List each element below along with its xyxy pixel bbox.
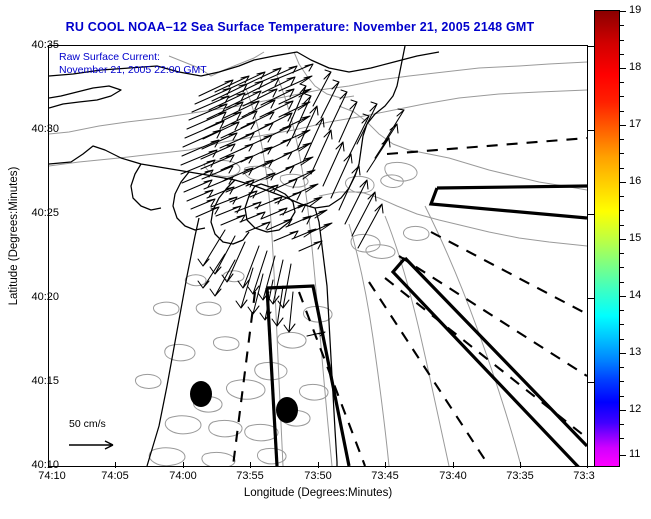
x-tick-mark bbox=[48, 462, 49, 468]
vector-scale-arrow bbox=[67, 438, 127, 452]
colorbar-minor-tick bbox=[620, 339, 624, 340]
colorbar-minor-tick bbox=[620, 168, 624, 169]
colorbar-minor-tick bbox=[620, 396, 624, 397]
map-canvas: Raw Surface Current: November 21, 2005 2… bbox=[49, 46, 587, 466]
x-tick-mark bbox=[250, 462, 251, 468]
colorbar-label: 13 bbox=[629, 346, 641, 358]
x-tick-label: 74:05 bbox=[101, 470, 129, 482]
colorbar-label: 16 bbox=[629, 175, 641, 187]
map-plot-area: Raw Surface Current: November 21, 2005 2… bbox=[48, 45, 588, 467]
colorbar-minor-tick bbox=[620, 111, 624, 112]
x-tick-mark bbox=[587, 462, 588, 468]
vector-scale-label: 50 cm/s bbox=[69, 418, 106, 430]
x-tick-mark bbox=[318, 462, 319, 468]
colorbar-minor-tick bbox=[620, 267, 624, 268]
colorbar-label: 14 bbox=[629, 289, 641, 301]
colorbar-minor-tick bbox=[620, 253, 624, 254]
y-tick-label: 40:15 bbox=[31, 375, 59, 387]
current-annotation: Raw Surface Current: November 21, 2005 2… bbox=[59, 51, 207, 77]
temperature-colorbar bbox=[594, 10, 620, 467]
colorbar-tick bbox=[620, 239, 626, 240]
colorbar-minor-tick bbox=[620, 381, 624, 382]
station-marker bbox=[190, 381, 212, 407]
colorbar-minor-tick bbox=[620, 54, 624, 55]
colorbar-minor-tick bbox=[620, 225, 624, 226]
figure-title: RU COOL NOAA–12 Sea Surface Temperature:… bbox=[0, 20, 600, 34]
coastline bbox=[49, 46, 439, 466]
y-tick-label: 40:30 bbox=[31, 123, 59, 135]
y-tick-label: 40:35 bbox=[31, 39, 59, 51]
sst-map-figure: RU COOL NOAA–12 Sea Surface Temperature:… bbox=[0, 0, 651, 519]
x-tick-label: 73:45 bbox=[371, 470, 399, 482]
x-tick-mark bbox=[183, 462, 184, 468]
x-tick-mark bbox=[453, 462, 454, 468]
x-tick-mark bbox=[520, 462, 521, 468]
y-tick-label: 40:25 bbox=[31, 207, 59, 219]
colorbar-tick bbox=[620, 125, 626, 126]
map-graphics bbox=[49, 46, 587, 466]
x-tick-label: 73:3 bbox=[573, 470, 594, 482]
colorbar-minor-tick bbox=[620, 25, 624, 26]
x-tick-label: 73:50 bbox=[304, 470, 332, 482]
x-tick-mark bbox=[115, 462, 116, 468]
colorbar-minor-tick bbox=[620, 96, 624, 97]
shipping-lanes bbox=[267, 186, 587, 466]
colorbar-label: 19 bbox=[629, 4, 641, 16]
x-tick-label: 74:00 bbox=[169, 470, 197, 482]
colorbar-minor-tick bbox=[620, 139, 624, 140]
colorbar-minor-tick bbox=[620, 424, 624, 425]
colorbar-tick bbox=[620, 455, 626, 456]
colorbar-label: 18 bbox=[629, 61, 641, 73]
colorbar-label: 11 bbox=[629, 448, 640, 460]
colorbar-minor-tick bbox=[620, 438, 624, 439]
colorbar-minor-tick bbox=[620, 196, 624, 197]
annotation-line-2: November 21, 2005 22:00 GMT bbox=[59, 64, 207, 77]
colorbar-tick bbox=[620, 182, 626, 183]
y-tick-label: 40:20 bbox=[31, 291, 59, 303]
colorbar-minor-tick bbox=[620, 310, 624, 311]
colorbar-label: 15 bbox=[629, 232, 641, 244]
colorbar-minor-tick bbox=[620, 82, 624, 83]
annotation-line-1: Raw Surface Current: bbox=[59, 51, 207, 64]
x-tick-mark bbox=[385, 462, 386, 468]
station-markers bbox=[190, 381, 298, 423]
station-marker bbox=[276, 397, 298, 423]
x-tick-label: 73:40 bbox=[439, 470, 467, 482]
colorbar-minor-tick bbox=[620, 40, 624, 41]
y-axis-title: Latitude (Degrees:Minutes) bbox=[8, 136, 20, 336]
vector-scale-legend: 50 cm/s bbox=[61, 418, 151, 458]
colorbar-label: 17 bbox=[629, 118, 641, 130]
colorbar-minor-tick bbox=[620, 367, 624, 368]
x-tick-label: 73:35 bbox=[506, 470, 534, 482]
colorbar-tick bbox=[620, 68, 626, 69]
colorbar-tick bbox=[620, 296, 626, 297]
colorbar-minor-tick bbox=[620, 153, 624, 154]
colorbar-minor-tick bbox=[620, 210, 624, 211]
x-tick-label: 73:55 bbox=[236, 470, 264, 482]
colorbar-minor-tick bbox=[620, 324, 624, 325]
colorbar-minor-tick bbox=[620, 282, 624, 283]
colorbar-tick bbox=[620, 410, 626, 411]
colorbar-tick bbox=[620, 11, 626, 12]
x-axis-title: Longitude (Degrees:Minutes) bbox=[48, 487, 588, 499]
colorbar-label: 12 bbox=[629, 403, 641, 415]
x-tick-label: 74:10 bbox=[38, 470, 66, 482]
colorbar-tick bbox=[620, 353, 626, 354]
